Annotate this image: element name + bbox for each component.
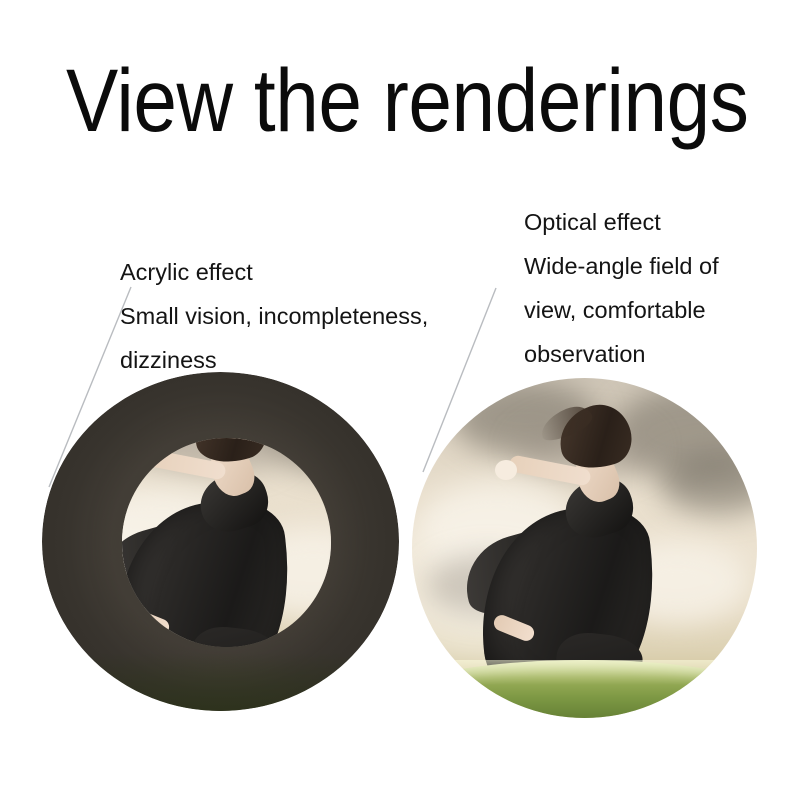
optical-callout-heading: Optical effect — [524, 200, 774, 244]
acrylic-callout-heading: Acrylic effect — [120, 250, 492, 294]
page-title: View the renderings — [66, 56, 748, 145]
grass-layer — [412, 660, 757, 718]
acrylic-viewing-window — [122, 438, 331, 646]
optical-callout-line-2: view, comfortable — [524, 288, 774, 332]
acrylic-callout: Acrylic effect Small vision, incompleten… — [120, 250, 492, 382]
acrylic-scene-photo — [122, 438, 331, 646]
dancer-hand — [495, 460, 517, 480]
optical-callout: Optical effect Wide-angle field of view,… — [524, 200, 774, 376]
renderings-comparison-page: View the renderings — [0, 0, 799, 800]
optical-lens-sample — [412, 378, 757, 718]
dancer-hand — [130, 454, 152, 474]
optical-callout-line-3: observation — [524, 332, 774, 376]
optical-scene-photo — [412, 378, 757, 718]
optical-callout-line-1: Wide-angle field of — [524, 244, 774, 288]
acrylic-callout-line-2: dizziness — [120, 338, 492, 382]
acrylic-lens-sample — [42, 372, 399, 711]
acrylic-callout-line-1: Small vision, incompleteness, — [120, 294, 492, 338]
dancer-figure — [122, 438, 331, 646]
acrylic-ring-grass-tint — [42, 653, 399, 711]
